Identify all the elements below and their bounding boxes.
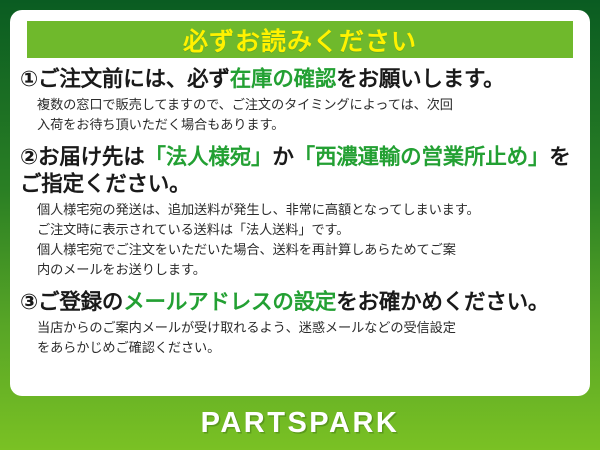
notice-item: ①ご注文前には、必ず在庫の確認をお願いします。複数の窓口で販売してますので、ご注… — [10, 66, 590, 135]
notice-number-icon: ② — [20, 145, 38, 169]
notice-heading: ③ご登録のメールアドレスの設定をお確かめください。 — [20, 289, 578, 315]
notice-body-line: 個人様宅宛の発送は、追加送料が発生し、非常に高額となってしまいます。 — [37, 200, 578, 220]
notice-item: ②お届け先は「法人様宛」か「西濃運輸の営業所止め」をご指定ください。個人様宅宛の… — [10, 144, 590, 280]
brand-logo-text: PARTSPARK — [201, 407, 400, 440]
notice-number-icon: ③ — [20, 290, 38, 314]
notice-body: 個人様宅宛の発送は、追加送料が発生し、非常に高額となってしまいます。ご注文時に表… — [20, 200, 578, 280]
notice-body-line: 内のメールをお送りします。 — [37, 260, 578, 280]
notice-heading-text: をお確かめください。 — [336, 290, 549, 314]
notice-heading-text: ご注文前には、必ず — [38, 67, 230, 91]
page-title: 必ずお読みください — [183, 22, 417, 58]
notice-body-line: 複数の窓口で販売してますので、ご注文のタイミングによっては、次回 — [37, 95, 578, 115]
notice-body: 複数の窓口で販売してますので、ご注文のタイミングによっては、次回入荷をお待ち頂い… — [20, 95, 578, 135]
notice-heading-highlight: 「西濃運輸の営業所止め」 — [294, 145, 550, 169]
notice-heading-text: ご登録の — [38, 290, 123, 314]
notice-item: ③ご登録のメールアドレスの設定をお確かめください。当店からのご案内メールが受け取… — [10, 289, 590, 358]
notice-body-line: ご注文時に表示されている送料は「法人送料」です。 — [37, 220, 578, 240]
notice-body-line: 個人様宅宛でご注文をいただいた場合、送料を再計算しあらためてご案 — [37, 240, 578, 260]
notice-heading-highlight: メールアドレスの設定 — [123, 290, 336, 314]
notice-list: ①ご注文前には、必ず在庫の確認をお願いします。複数の窓口で販売してますので、ご注… — [10, 66, 590, 358]
notice-heading-highlight: 「法人様宛」 — [145, 145, 273, 169]
notice-body-line: をあらかじめご確認ください。 — [37, 338, 578, 358]
notice-body-line: 入荷をお待ち頂いただく場合もあります。 — [37, 115, 578, 135]
notice-heading-highlight: 在庫の確認 — [230, 67, 337, 91]
notice-heading: ①ご注文前には、必ず在庫の確認をお願いします。 — [20, 66, 578, 92]
notice-card: 必ずお読みください ①ご注文前には、必ず在庫の確認をお願いします。複数の窓口で販… — [10, 10, 590, 396]
notice-number-icon: ① — [20, 67, 38, 91]
notice-body: 当店からのご案内メールが受け取れるよう、迷惑メールなどの受信設定をあらかじめご確… — [20, 318, 578, 358]
notice-heading-text: か — [272, 145, 293, 169]
notice-heading-text: をお願いします。 — [336, 67, 504, 91]
footer-brand-bar: PARTSPARK — [0, 396, 600, 450]
notice-body-line: 当店からのご案内メールが受け取れるよう、迷惑メールなどの受信設定 — [37, 318, 578, 338]
header-banner: 必ずお読みください — [27, 21, 573, 58]
notice-heading-text: お届け先は — [38, 145, 145, 169]
notice-heading: ②お届け先は「法人様宛」か「西濃運輸の営業所止め」をご指定ください。 — [20, 144, 578, 196]
